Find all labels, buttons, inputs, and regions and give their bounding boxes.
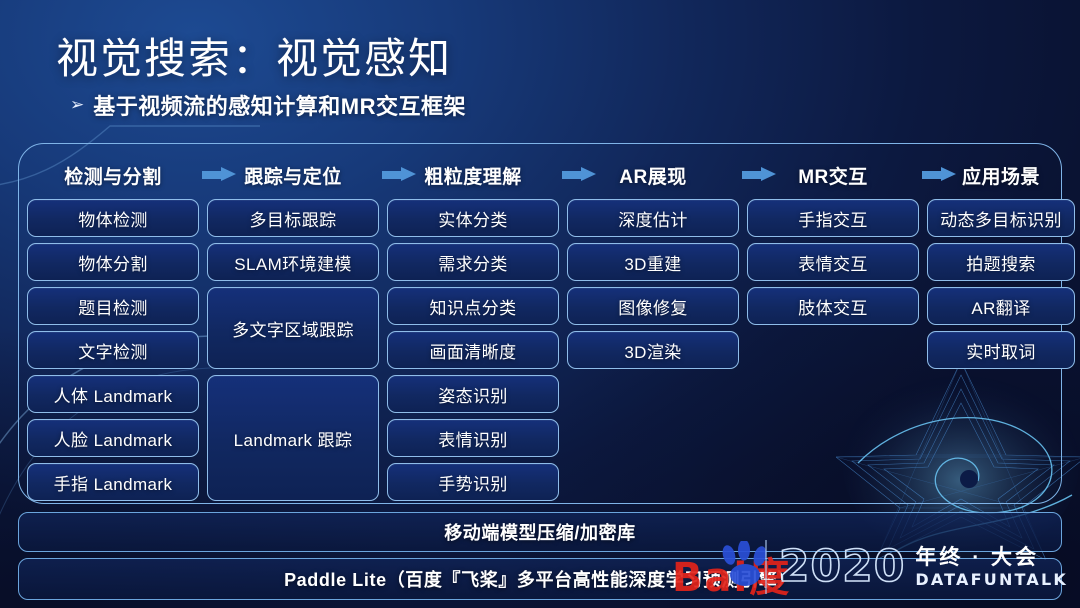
pipeline-column-4: 深度估计3D重建图像修复3D渲染 — [567, 196, 739, 501]
pipeline-column-6: 动态多目标识别拍题搜索AR翻译实时取词 — [927, 196, 1075, 501]
logo-name-cn: 年终 · 大会 — [915, 547, 1068, 568]
column-header-4: AR展现 — [567, 162, 739, 189]
pipeline-item: 文字检测 — [27, 331, 199, 369]
pipeline-grid: 物体检测物体分割题目检测文字检测人体 Landmark人脸 Landmark手指… — [19, 196, 1061, 501]
pipeline-item: 实体分类 — [387, 199, 559, 237]
pipeline-item: 3D渲染 — [567, 331, 739, 369]
slide-root: 视觉搜索：视觉感知 ➢ 基于视频流的感知计算和MR交互框架 检测与分割跟踪与定位… — [0, 0, 1080, 608]
pipeline-column-5: 手指交互表情交互肢体交互 — [747, 196, 919, 501]
pipeline-item: 需求分类 — [387, 243, 559, 281]
pipeline-item: 肢体交互 — [747, 287, 919, 325]
pipeline-item: 物体分割 — [27, 243, 199, 281]
column-header-5: MR交互 — [747, 162, 919, 189]
pipeline-item: AR翻译 — [927, 287, 1075, 325]
pipeline-item: 图像修复 — [567, 287, 739, 325]
column-header-3: 粗粒度理解 — [387, 162, 559, 189]
pipeline-item: 人体 Landmark — [27, 375, 199, 413]
page-title: 视觉搜索：视觉感知 — [56, 36, 466, 81]
pipeline-item: 多目标跟踪 — [207, 199, 379, 237]
pipeline-item: 手势识别 — [387, 463, 559, 501]
column-header-1: 检测与分割 — [27, 162, 199, 189]
pipeline-item: Landmark 跟踪 — [207, 375, 379, 501]
pipeline-item: 姿态识别 — [387, 375, 559, 413]
pipeline-header-row: 检测与分割跟踪与定位粗粒度理解AR展现MR交互应用场景 — [19, 154, 1061, 196]
title-block: 视觉搜索：视觉感知 ➢ 基于视频流的感知计算和MR交互框架 — [56, 36, 466, 121]
pipeline-item: 动态多目标识别 — [927, 199, 1075, 237]
pipeline-item: 手指交互 — [747, 199, 919, 237]
subtitle-row: ➢ 基于视频流的感知计算和MR交互框架 — [70, 89, 466, 121]
pipeline-item: 画面清晰度 — [387, 331, 559, 369]
column-header-2: 跟踪与定位 — [207, 162, 379, 189]
pipeline-item: 物体检测 — [27, 199, 199, 237]
pipeline-item: 人脸 Landmark — [27, 419, 199, 457]
logo-divider — [765, 540, 767, 594]
column-header-6: 应用场景 — [927, 162, 1075, 189]
pipeline-item: SLAM环境建模 — [207, 243, 379, 281]
subtitle-text: 基于视频流的感知计算和MR交互框架 — [93, 89, 466, 121]
pipeline-item: 题目检测 — [27, 287, 199, 325]
pipeline-item: 手指 Landmark — [27, 463, 199, 501]
pipeline-panel: 检测与分割跟踪与定位粗粒度理解AR展现MR交互应用场景 物体检测物体分割题目检测… — [18, 143, 1062, 504]
logo-name-en: DATAFUNTALK — [915, 572, 1068, 588]
pipeline-item: 实时取词 — [927, 331, 1075, 369]
pipeline-item: 知识点分类 — [387, 287, 559, 325]
bullet-arrow-icon: ➢ — [70, 96, 84, 113]
pipeline-column-1: 物体检测物体分割题目检测文字检测人体 Landmark人脸 Landmark手指… — [27, 196, 199, 501]
pipeline-column-2: 多目标跟踪SLAM环境建模多文字区域跟踪Landmark 跟踪 — [207, 196, 379, 501]
pipeline-item: 拍题搜索 — [927, 243, 1075, 281]
pipeline-item: 深度估计 — [567, 199, 739, 237]
pipeline-item: 表情交互 — [747, 243, 919, 281]
logo-year: 2020 — [779, 545, 905, 589]
conference-logo: 2020 年终 · 大会 DATAFUNTALK — [765, 536, 1068, 598]
pipeline-item: 多文字区域跟踪 — [207, 287, 379, 369]
pipeline-item: 表情识别 — [387, 419, 559, 457]
logo-text-group: 年终 · 大会 DATAFUNTALK — [915, 547, 1068, 588]
pipeline-item: 3D重建 — [567, 243, 739, 281]
pipeline-column-3: 实体分类需求分类知识点分类画面清晰度姿态识别表情识别手势识别 — [387, 196, 559, 501]
